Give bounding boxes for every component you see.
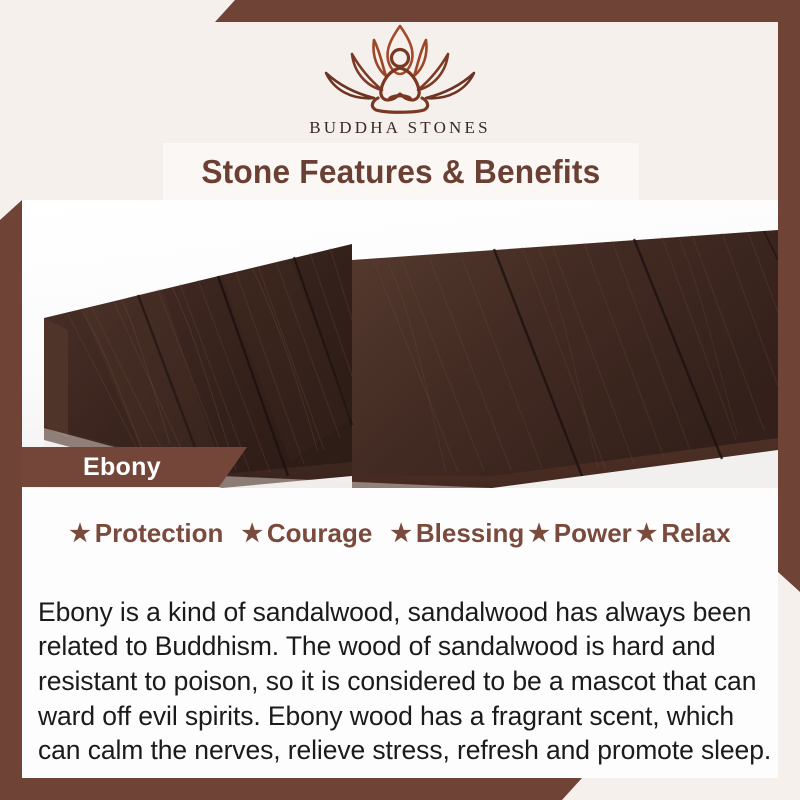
- frame-bar-bottom: [0, 778, 582, 800]
- benefit-label: Power: [554, 518, 632, 549]
- star-icon: ★: [390, 522, 412, 546]
- benefit-label: Protection: [95, 518, 224, 549]
- benefit-item-relax: ★ Relax: [636, 518, 731, 549]
- benefit-item-courage: ★ Courage: [241, 518, 372, 549]
- product-photo: [22, 200, 778, 488]
- benefit-label: Blessing: [416, 518, 524, 549]
- benefit-item-protection: ★ Protection: [69, 518, 223, 549]
- logo-block: BUDDHA STONES: [0, 18, 800, 138]
- benefit-item-power: ★ Power: [528, 518, 632, 549]
- page-title: Stone Features & Benefits: [201, 153, 600, 191]
- description-text: Ebony is a kind of sandalwood, sandalwoo…: [38, 595, 772, 769]
- star-icon: ★: [241, 522, 263, 546]
- poster-root: BUDDHA STONES: [0, 0, 800, 800]
- benefit-item-blessing: ★ Blessing: [390, 518, 524, 549]
- frame-bar-left: [0, 200, 22, 800]
- star-icon: ★: [636, 522, 658, 546]
- frame-bar-top: [215, 0, 800, 22]
- product-name-banner: Ebony: [22, 447, 247, 487]
- ebony-wood-planks-image: [22, 200, 778, 488]
- benefits-row: ★ Protection ★ Courage ★ Blessing ★ Powe…: [22, 518, 778, 549]
- benefit-label: Courage: [267, 518, 372, 549]
- lotus-meditation-icon: [300, 18, 500, 116]
- brand-name: BUDDHA STONES: [0, 118, 800, 138]
- star-icon: ★: [69, 522, 91, 546]
- title-banner: Stone Features & Benefits: [163, 143, 639, 200]
- star-icon: ★: [528, 522, 550, 546]
- benefit-label: Relax: [661, 518, 730, 549]
- frame-bar-right: [778, 0, 800, 592]
- product-name: Ebony: [83, 453, 161, 482]
